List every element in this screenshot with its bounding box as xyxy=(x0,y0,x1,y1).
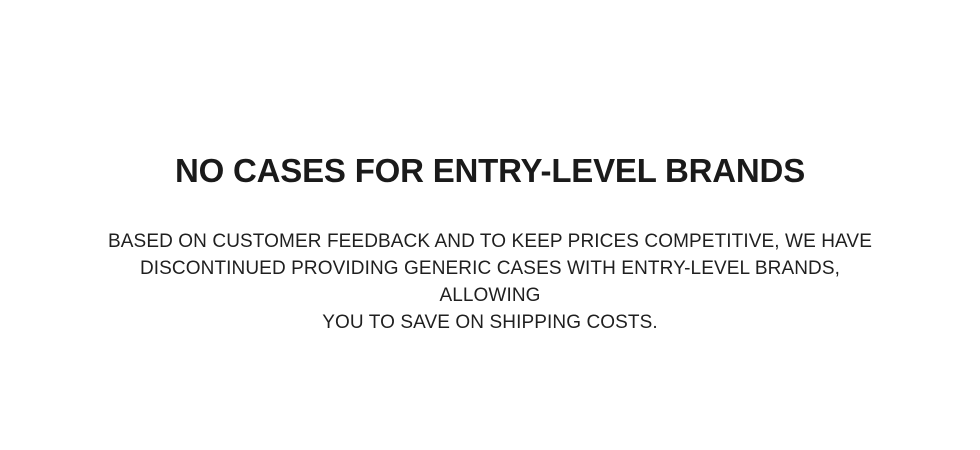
announcement-body-line: BASED ON CUSTOMER FEEDBACK AND TO KEEP P… xyxy=(90,228,890,255)
announcement-body-line: DISCONTINUED PROVIDING GENERIC CASES WIT… xyxy=(90,255,890,309)
announcement-body-line: YOU TO SAVE ON SHIPPING COSTS. xyxy=(90,309,890,336)
announcement-body: BASED ON CUSTOMER FEEDBACK AND TO KEEP P… xyxy=(90,228,890,336)
announcement-page: NO CASES FOR ENTRY-LEVEL BRANDS BASED ON… xyxy=(0,0,980,450)
announcement-content-block: NO CASES FOR ENTRY-LEVEL BRANDS BASED ON… xyxy=(0,0,980,336)
page-title: NO CASES FOR ENTRY-LEVEL BRANDS xyxy=(0,152,980,190)
